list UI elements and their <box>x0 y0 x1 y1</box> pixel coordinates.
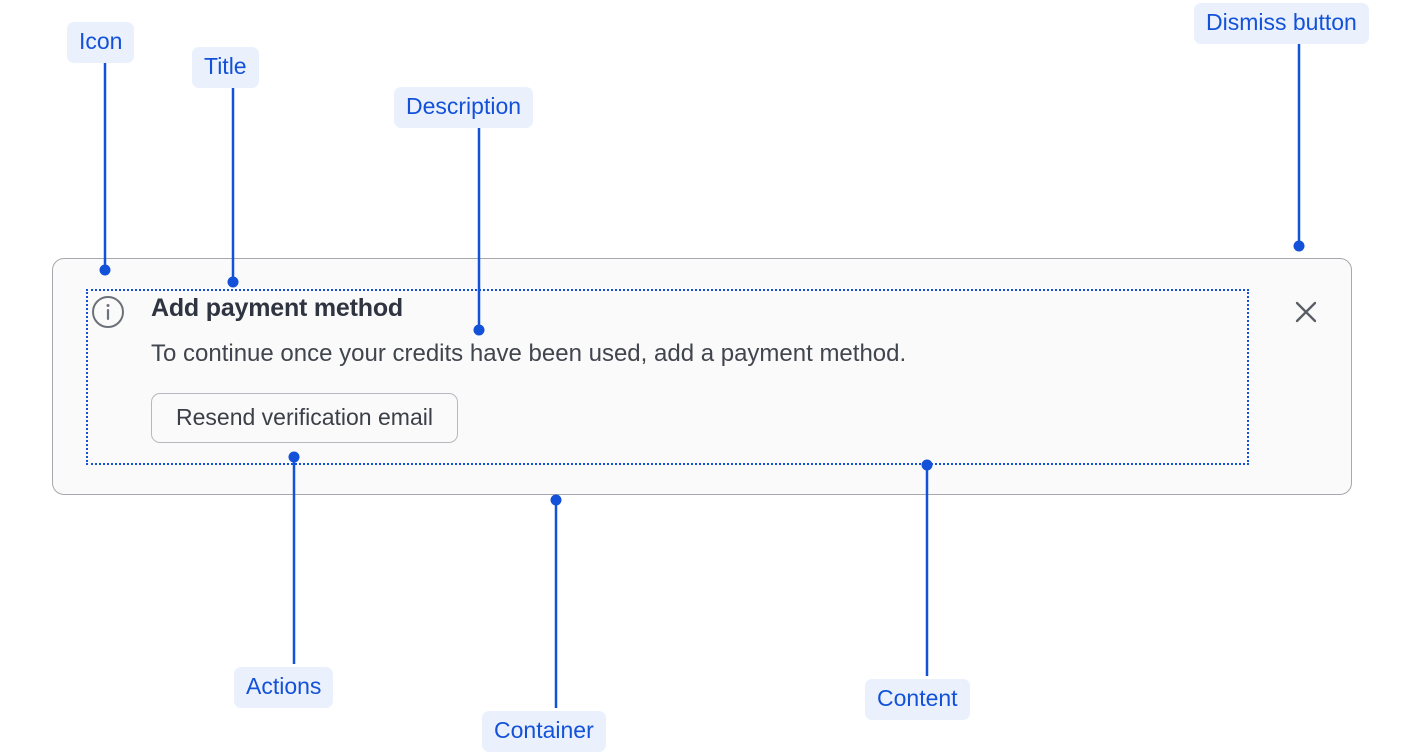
alert-content-region: Add payment method To continue once your… <box>86 289 1249 465</box>
info-circle-icon <box>91 295 125 329</box>
alert-text-block: Add payment method To continue once your… <box>151 291 1241 443</box>
annotation-label-content: Content <box>865 679 970 720</box>
annotation-label-title: Title <box>192 47 259 88</box>
annotation-label-icon: Icon <box>67 22 134 63</box>
alert-description: To continue once your credits have been … <box>151 338 1241 370</box>
dismiss-button[interactable] <box>1289 295 1323 329</box>
annotation-label-container: Container <box>482 711 606 752</box>
alert-actions: Resend verification email <box>151 393 1241 443</box>
annotation-label-dismiss-button: Dismiss button <box>1194 3 1369 44</box>
annotation-label-actions: Actions <box>234 667 333 708</box>
alert-container: Add payment method To continue once your… <box>52 258 1352 495</box>
annotation-label-description: Description <box>394 87 533 128</box>
resend-verification-email-button[interactable]: Resend verification email <box>151 393 458 443</box>
alert-title: Add payment method <box>151 291 1241 325</box>
close-icon <box>1293 299 1319 325</box>
